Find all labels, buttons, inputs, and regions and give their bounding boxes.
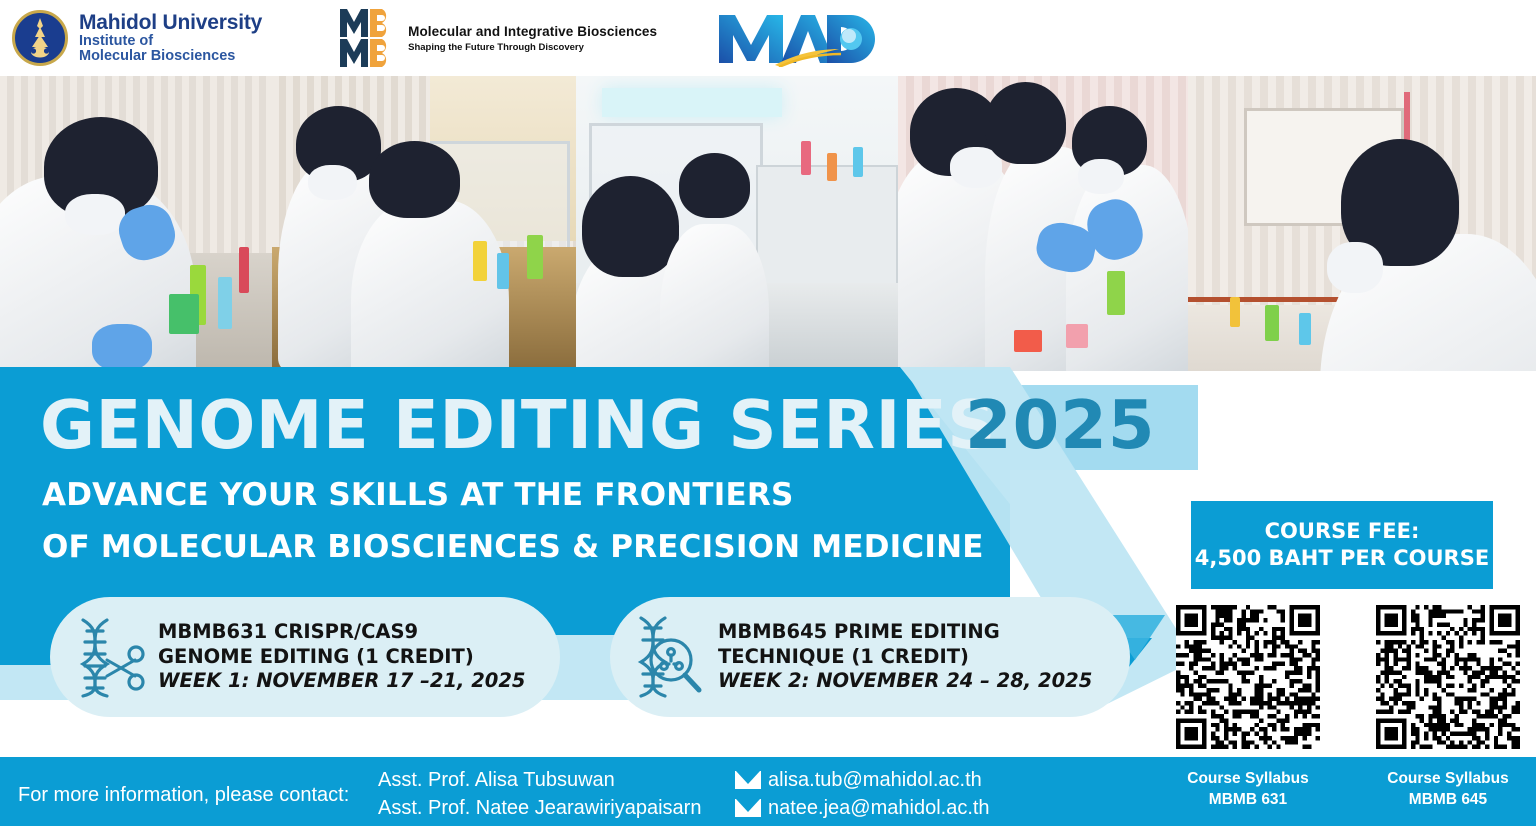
course-2-line-2: TECHNIQUE (1 CREDIT) bbox=[718, 645, 1092, 670]
course-2-line-1: MBMB645 PRIME EDITING bbox=[718, 620, 1092, 645]
dna-scissors-icon bbox=[50, 614, 158, 700]
page-title: GENOME EDITING SERIES bbox=[40, 392, 996, 459]
qr-code-icon bbox=[1176, 605, 1320, 749]
course-card-mbmb645[interactable]: MBMB645 PRIME EDITING TECHNIQUE (1 CREDI… bbox=[610, 597, 1130, 717]
course-2-dates: WEEK 2: NOVEMBER 24 – 28, 2025 bbox=[718, 669, 1092, 694]
fee-label: COURSE FEE: bbox=[1265, 518, 1420, 545]
photo-strip bbox=[0, 76, 1536, 371]
lab-photo-2 bbox=[272, 76, 576, 371]
dna-magnifier-icon bbox=[610, 614, 718, 700]
map-logo bbox=[715, 9, 875, 67]
mbmb-logo: Molecular and Integrative Biosciences Sh… bbox=[338, 7, 657, 69]
contact-label: For more information, please contact: bbox=[18, 784, 349, 807]
contact-name-2: Asst. Prof. Natee Jearawiriyapaisarn bbox=[378, 797, 701, 820]
qr-code-icon bbox=[1376, 605, 1520, 749]
envelope-icon bbox=[735, 771, 761, 789]
contact-email-2[interactable]: natee.jea@mahidol.ac.th bbox=[768, 797, 990, 820]
mahidol-emblem-glyph bbox=[21, 17, 59, 59]
course-card-mbmb631[interactable]: MBMB631 CRISPR/CAS9 GENOME EDITING (1 CR… bbox=[50, 597, 560, 717]
contact-email-1[interactable]: alisa.tub@mahidol.ac.th bbox=[768, 769, 982, 792]
course-1-line-2: GENOME EDITING (1 CREDIT) bbox=[158, 645, 526, 670]
subtitle-line-1: ADVANCE YOUR SKILLS AT THE FRONTIERS bbox=[42, 477, 794, 513]
mahidol-line3: Molecular Biosciences bbox=[79, 49, 262, 64]
mahidol-name: Mahidol University bbox=[79, 12, 262, 34]
mahidol-university-logo: Mahidol University Institute of Molecula… bbox=[12, 10, 262, 66]
qr-caption-2-line-2: MBMB 645 bbox=[1358, 790, 1536, 811]
qr-code-mbmb631[interactable] bbox=[1176, 605, 1320, 749]
qr-caption-1-line-1: Course Syllabus bbox=[1158, 769, 1338, 790]
course-fee-box: COURSE FEE: 4,500 BAHT PER COURSE bbox=[1191, 501, 1493, 589]
page-title-year: 2025 bbox=[965, 392, 1155, 459]
course-1-line-1: MBMB631 CRISPR/CAS9 bbox=[158, 620, 526, 645]
contact-name-1: Asst. Prof. Alisa Tubsuwan bbox=[378, 769, 615, 792]
qr-caption-1-line-2: MBMB 631 bbox=[1158, 790, 1338, 811]
mbmb-tagline: Shaping the Future Through Discovery bbox=[408, 42, 657, 53]
lab-photo-4 bbox=[898, 76, 1188, 371]
lab-photo-3 bbox=[576, 76, 898, 371]
mahidol-seal-icon bbox=[12, 10, 68, 66]
qr-caption-mbmb631: Course Syllabus MBMB 631 bbox=[1158, 769, 1338, 811]
qr-caption-mbmb645: Course Syllabus MBMB 645 bbox=[1358, 769, 1536, 811]
qr-code-mbmb645[interactable] bbox=[1376, 605, 1520, 749]
envelope-icon bbox=[735, 799, 761, 817]
lab-photo-5 bbox=[1188, 76, 1536, 371]
map-logo-icon bbox=[715, 9, 875, 67]
mbmb-logo-icon bbox=[338, 7, 398, 69]
qr-caption-2-line-1: Course Syllabus bbox=[1358, 769, 1536, 790]
lab-photo-1 bbox=[0, 76, 272, 371]
logo-bar: Mahidol University Institute of Molecula… bbox=[0, 0, 1536, 76]
mbmb-title: Molecular and Integrative Biosciences bbox=[408, 24, 657, 39]
course-1-dates: WEEK 1: NOVEMBER 17 –21, 2025 bbox=[158, 669, 526, 694]
subtitle-line-2: OF MOLECULAR BIOSCIENCES & PRECISION MED… bbox=[42, 529, 984, 565]
fee-amount: 4,500 BAHT PER COURSE bbox=[1195, 545, 1489, 572]
mahidol-line2: Institute of bbox=[79, 34, 262, 49]
